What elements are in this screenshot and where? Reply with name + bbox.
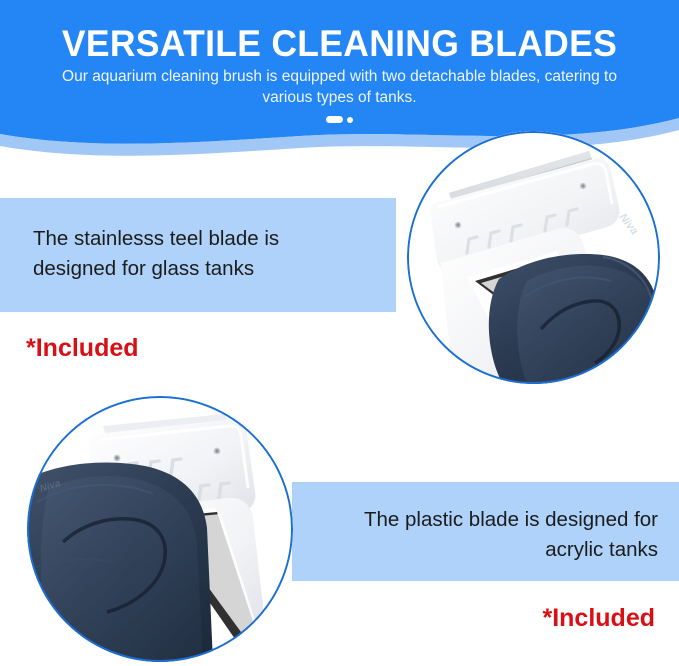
product-photo-stainless-steel: Niva	[407, 131, 660, 384]
caption-stainless-steel: The stainlesss teel blade is designed fo…	[33, 224, 363, 284]
infographic-page: VERSATILE CLEANING BLADES Our aquarium c…	[0, 0, 679, 666]
product-photo-plastic: Niva	[27, 396, 293, 662]
included-badge-plastic: *Included	[369, 603, 655, 633]
header-subtitle: Our aquarium cleaning brush is equipped …	[50, 66, 629, 108]
pagination-dot-icon[interactable]	[347, 117, 353, 123]
header-banner: VERSATILE CLEANING BLADES Our aquarium c…	[0, 0, 679, 160]
caption-plastic: The plastic blade is designed for acryli…	[305, 505, 658, 565]
included-badge-stainless: *Included	[26, 333, 139, 363]
pagination-active-indicator[interactable]	[326, 116, 343, 123]
slide-pagination[interactable]	[0, 116, 679, 123]
page-title: VERSATILE CLEANING BLADES	[14, 22, 666, 66]
